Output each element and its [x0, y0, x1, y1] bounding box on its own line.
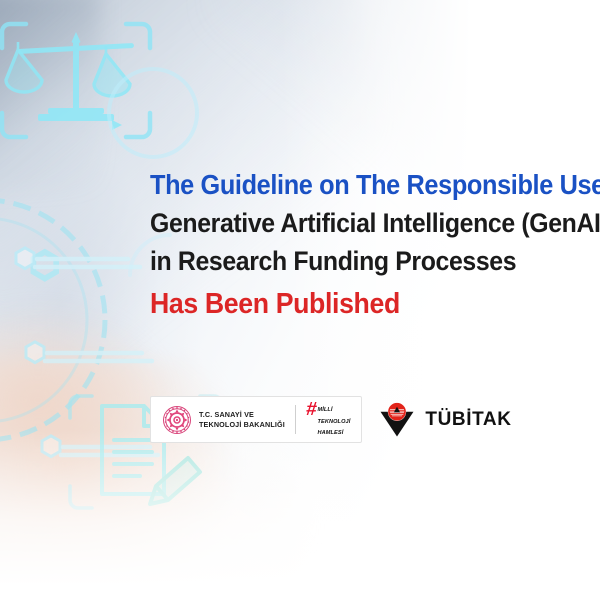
tubitak-wordmark: TÜBİTAK	[425, 410, 511, 429]
background-shape-dark-corner	[0, 0, 100, 190]
tubitak-triangle-mark	[378, 401, 416, 439]
logo-card-divider	[295, 405, 296, 434]
headline-line-2: Generative Artificial Intelligence (GenA…	[150, 204, 582, 242]
national-tech-move-text: MİLLİ TEKNOLOJİ HAMLESİ	[317, 402, 350, 436]
headline-line-1: The Guideline on The Responsible Use of	[150, 166, 582, 204]
turkish-ministry-gear-emblem	[162, 405, 192, 435]
hashtag-icon: #	[305, 402, 317, 417]
national-tech-move-line-1: MİLLİ	[317, 407, 350, 413]
headline-block: The Guideline on The Responsible Use of …	[150, 166, 600, 323]
national-tech-move-line-3: HAMLESİ	[317, 430, 350, 436]
national-tech-move-line-2: TEKNOLOJİ	[317, 419, 350, 425]
ministry-logo-card: T.C. SANAYİ VE TEKNOLOJİ BAKANLIĞI # MİL…	[150, 396, 362, 443]
logo-bar: T.C. SANAYİ VE TEKNOLOJİ BAKANLIĞI # MİL…	[150, 396, 512, 443]
ministry-logo-text: T.C. SANAYİ VE TEKNOLOJİ BAKANLIĞI	[199, 410, 285, 429]
tubitak-logo: TÜBİTAK	[378, 401, 511, 439]
background-fade-bottom	[0, 430, 600, 600]
banner-root: The Guideline on The Responsible Use of …	[0, 0, 600, 600]
ministry-logo: T.C. SANAYİ VE TEKNOLOJİ BAKANLIĞI	[162, 405, 285, 435]
national-tech-move-logo: # MİLLİ TEKNOLOJİ HAMLESİ	[306, 402, 351, 436]
headline-line-3: in Research Funding Processes	[150, 242, 582, 280]
ministry-text-line-1: T.C. SANAYİ VE	[199, 410, 285, 420]
headline-line-4: Has Been Published	[150, 285, 582, 323]
ministry-text-line-2: TEKNOLOJİ BAKANLIĞI	[199, 420, 285, 430]
